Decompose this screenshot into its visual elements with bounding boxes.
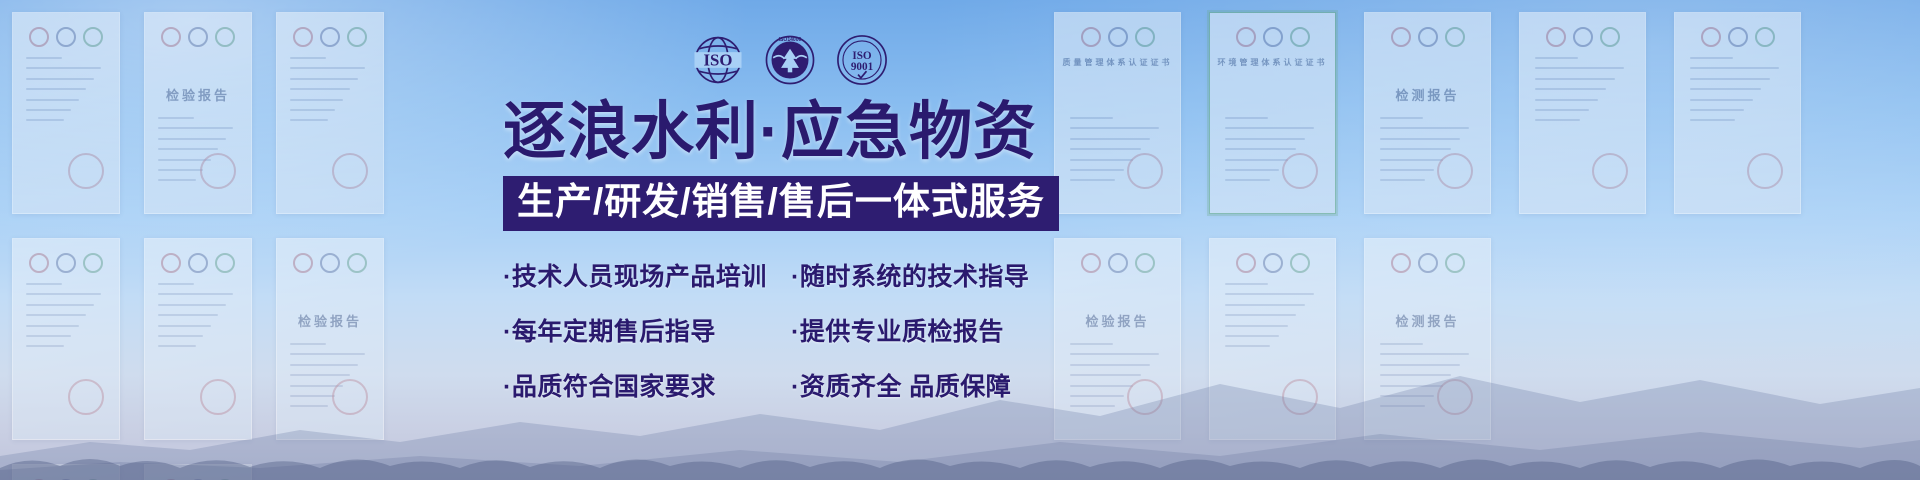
certificate-title: 检验报告 bbox=[277, 311, 383, 330]
certificate-text-line bbox=[1225, 325, 1288, 327]
certificate-text-line bbox=[1225, 314, 1296, 316]
certificate-text-line bbox=[1070, 138, 1150, 140]
certificate-seal bbox=[1437, 153, 1473, 189]
certificate-text-line bbox=[1225, 283, 1268, 285]
certificate-text-line bbox=[158, 117, 194, 119]
certificate-text-line bbox=[290, 99, 343, 101]
certificate-logo-row bbox=[277, 253, 383, 273]
certificate-text-line bbox=[1535, 109, 1589, 111]
certificate-logo-row bbox=[145, 253, 251, 273]
certificate-logo-row bbox=[1055, 27, 1180, 47]
feature-item: ·提供专业质检报告 bbox=[791, 312, 1004, 348]
certificate-text-line bbox=[1535, 67, 1624, 69]
certificate-thumbnail: 环境管理体系认证证书 bbox=[1209, 12, 1336, 214]
certificate-text-line bbox=[1535, 119, 1580, 121]
treeline-silhouette bbox=[0, 446, 1920, 480]
certificate-logo-row bbox=[1365, 27, 1490, 47]
svg-text:ISO: ISO bbox=[852, 50, 872, 62]
certificate-logo-row bbox=[13, 253, 119, 273]
feature-item: ·每年定期售后指导 bbox=[503, 312, 791, 348]
certificate-text-line bbox=[1535, 57, 1578, 59]
certificate-text-line bbox=[26, 325, 79, 327]
certificate-title: 检验报告 bbox=[145, 85, 251, 104]
certificate-logo-row bbox=[1210, 27, 1335, 47]
svg-text:ISO14000: ISO14000 bbox=[779, 37, 802, 43]
certificate-text-line bbox=[1690, 78, 1770, 80]
certificate-text-line bbox=[1070, 159, 1133, 161]
certificate-text-line bbox=[1070, 169, 1124, 171]
feature-item: ·随时系统的技术指导 bbox=[791, 257, 1029, 293]
certificate-text-line bbox=[26, 314, 86, 316]
certificate-text-line bbox=[1380, 179, 1425, 181]
certificate-logo-row bbox=[1675, 27, 1800, 47]
certificate-title: 质量管理体系认证证书 bbox=[1055, 57, 1180, 68]
certificate-text-line bbox=[26, 109, 72, 111]
certificate-seal bbox=[68, 153, 104, 189]
certificate-text-line bbox=[1690, 99, 1753, 101]
feature-item: ·品质符合国家要求 bbox=[503, 367, 791, 403]
certificate-thumbnail: 检验报告 bbox=[144, 12, 252, 214]
subtitle-text: 生产/研发/销售/售后一体式服务 bbox=[517, 181, 1045, 222]
certificate-thumbnail bbox=[12, 12, 120, 214]
certificate-logo-row bbox=[1365, 253, 1490, 273]
certificate-text-line bbox=[158, 325, 211, 327]
certification-badges: ISO ISO14000 ISO 9001 bbox=[690, 32, 890, 88]
feature-row: ·每年定期售后指导 ·提供专业质检报告 bbox=[503, 312, 1063, 348]
certificate-seal bbox=[1127, 153, 1163, 189]
certificate-text-line bbox=[26, 283, 62, 285]
certificate-seal bbox=[1747, 153, 1783, 189]
feature-row: ·品质符合国家要求 ·资质齐全 品质保障 bbox=[503, 367, 1063, 403]
certificate-text-line bbox=[1690, 119, 1735, 121]
certificate-text-line bbox=[26, 78, 94, 80]
certificate-seal bbox=[200, 153, 236, 189]
certificate-text-line bbox=[1690, 67, 1779, 69]
certificate-thumbnail: 质量管理体系认证证书 bbox=[1054, 12, 1181, 214]
certificate-title: 检测报告 bbox=[1365, 85, 1490, 104]
certificate-text-line bbox=[158, 283, 194, 285]
certificate-text-line bbox=[26, 304, 94, 306]
certificate-text-line bbox=[1380, 138, 1460, 140]
promo-banner: 检验报告检验报告检验报告检验报告 质量管理体系认证证书环境管理体系认证证书检测报… bbox=[0, 0, 1920, 480]
certificate-title: 环境管理体系认证证书 bbox=[1210, 57, 1335, 68]
certificate-logo-row bbox=[1055, 253, 1180, 273]
certificate-text-line bbox=[26, 67, 101, 69]
certificate-text-line bbox=[290, 109, 336, 111]
certificate-text-line bbox=[158, 169, 204, 171]
certificate-text-line bbox=[26, 88, 86, 90]
svg-text:9001: 9001 bbox=[851, 61, 874, 73]
certificate-text-line bbox=[1070, 148, 1141, 150]
certificate-text-line bbox=[1380, 117, 1423, 119]
certificate-seal bbox=[1282, 153, 1318, 189]
certificate-text-line bbox=[158, 127, 233, 129]
certificate-text-line bbox=[26, 99, 79, 101]
certificate-text-line bbox=[290, 119, 328, 121]
feature-row: ·技术人员现场产品培训 ·随时系统的技术指导 bbox=[503, 257, 1063, 293]
certificate-text-line bbox=[1225, 159, 1288, 161]
certificate-thumbnail: 检测报告 bbox=[1364, 12, 1491, 214]
certificate-text-line bbox=[290, 57, 326, 59]
certificate-text-line bbox=[1070, 127, 1159, 129]
certificate-text-line bbox=[1225, 148, 1296, 150]
certificate-text-line bbox=[158, 304, 226, 306]
certificate-thumbnail bbox=[1674, 12, 1801, 214]
feature-list: ·技术人员现场产品培训 ·随时系统的技术指导 ·每年定期售后指导 ·提供专业质检… bbox=[503, 257, 1063, 403]
certificate-text-line bbox=[1225, 293, 1314, 295]
certificate-text-line bbox=[1690, 88, 1761, 90]
certificate-text-line bbox=[1225, 304, 1305, 306]
certificate-logo-row bbox=[13, 27, 119, 47]
certificate-text-line bbox=[26, 293, 101, 295]
certificate-text-line bbox=[1535, 99, 1598, 101]
certificate-text-line bbox=[1225, 117, 1268, 119]
certificate-text-line bbox=[1225, 179, 1270, 181]
certificate-text-line bbox=[158, 293, 233, 295]
certificate-text-line bbox=[1070, 117, 1113, 119]
certificate-thumbnail bbox=[1519, 12, 1646, 214]
certificate-logo-row bbox=[1520, 27, 1645, 47]
certificate-seal bbox=[1592, 153, 1628, 189]
certificate-text-line bbox=[1380, 159, 1443, 161]
certificate-text-line bbox=[1535, 78, 1615, 80]
feature-item: ·资质齐全 品质保障 bbox=[791, 367, 1011, 403]
certificate-text-line bbox=[1380, 148, 1451, 150]
iso-9001-badge: ISO 9001 bbox=[834, 32, 890, 88]
certificate-text-line bbox=[290, 88, 350, 90]
certificate-text-line bbox=[1380, 127, 1469, 129]
certificate-title: 检测报告 bbox=[1365, 311, 1490, 330]
certificate-text-line bbox=[1225, 169, 1279, 171]
page-title: 逐浪水利·应急物资 bbox=[503, 100, 1073, 164]
headline-block: 逐浪水利·应急物资 生产/研发/销售/售后一体式服务 ·技术人员现场产品培训 ·… bbox=[503, 100, 1073, 422]
certificate-text-line bbox=[1225, 127, 1314, 129]
certificate-text-line bbox=[158, 138, 226, 140]
certificate-title: 检验报告 bbox=[1055, 311, 1180, 330]
certificate-text-line bbox=[1690, 57, 1733, 59]
certificate-thumbnail bbox=[276, 12, 384, 214]
certificate-logo-row bbox=[1210, 253, 1335, 273]
certificate-text-line bbox=[1535, 88, 1606, 90]
certificate-text-line bbox=[1380, 169, 1434, 171]
certificate-text-line bbox=[158, 314, 218, 316]
certificate-logo-row bbox=[145, 27, 251, 47]
certificate-seal bbox=[332, 153, 368, 189]
certificate-text-line bbox=[1070, 179, 1115, 181]
svg-text:ISO: ISO bbox=[704, 51, 733, 70]
certificate-text-line bbox=[1690, 109, 1744, 111]
certificate-text-line bbox=[290, 78, 358, 80]
certificate-text-line bbox=[26, 119, 64, 121]
iso-14000-badge: ISO14000 bbox=[762, 32, 818, 88]
subtitle-bar: 生产/研发/销售/售后一体式服务 bbox=[503, 176, 1059, 231]
certificate-text-line bbox=[1225, 138, 1305, 140]
certificate-text-line bbox=[290, 67, 365, 69]
certificate-logo-row bbox=[277, 27, 383, 47]
feature-item: ·技术人员现场产品培训 bbox=[503, 257, 791, 293]
certificate-text-line bbox=[158, 148, 218, 150]
certificate-text-line bbox=[26, 57, 62, 59]
certificate-text-line bbox=[158, 179, 196, 181]
iso-globe-badge: ISO bbox=[690, 32, 746, 88]
